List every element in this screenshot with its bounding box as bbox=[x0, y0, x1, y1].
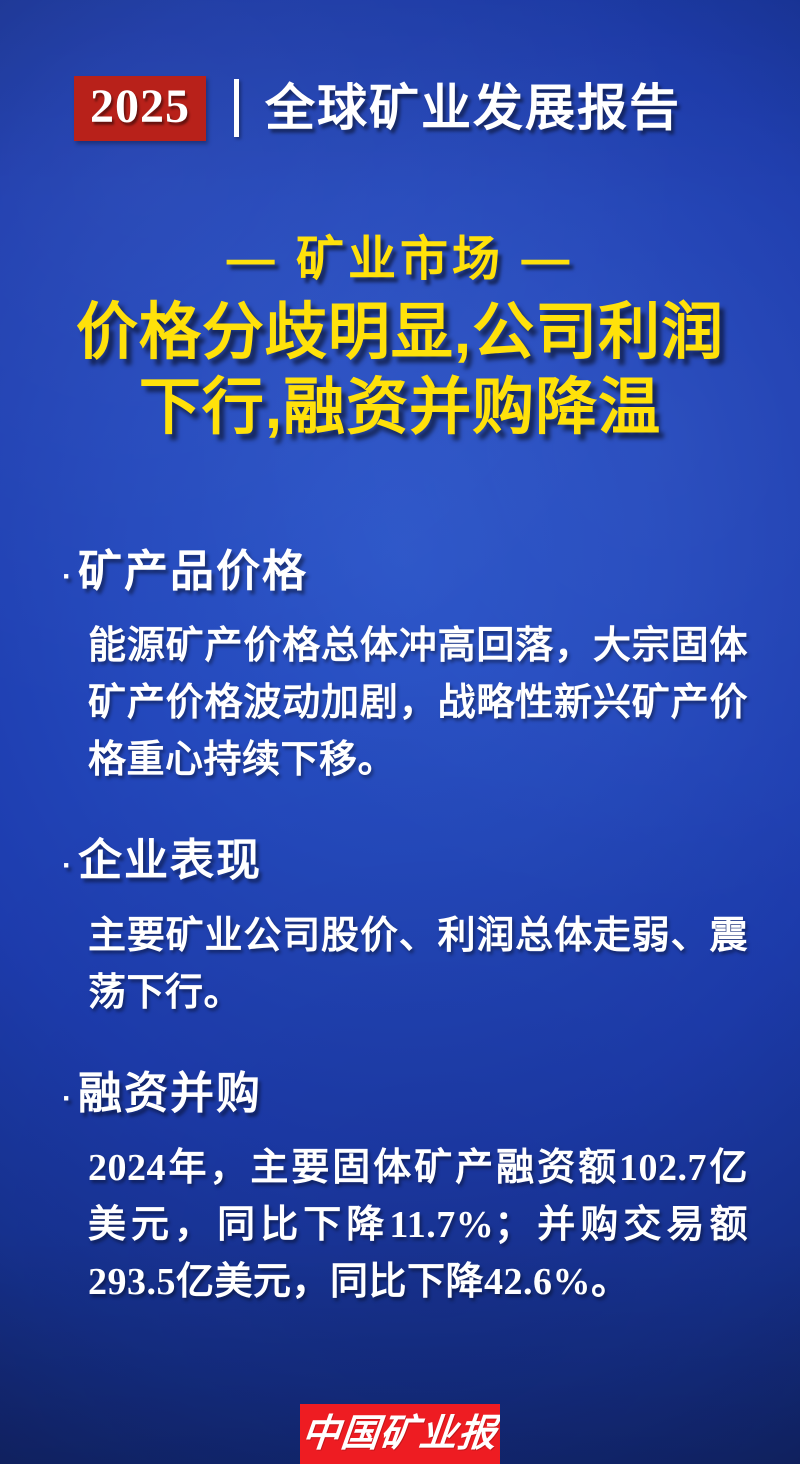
section-body-text: 2024年，主要固体矿产融资额102.7亿美元，同比下降11.7%；并购交易额2… bbox=[62, 1140, 748, 1311]
poster-canvas: 2025 全球矿业发展报告 — 矿业市场 — 价格分歧明显,公司利润 下行,融资… bbox=[0, 0, 800, 1464]
hero-block: — 矿业市场 — 价格分歧明显,公司利润 下行,融资并购降温 bbox=[0, 232, 800, 446]
section-heading-label: 融资并购 bbox=[78, 1070, 262, 1118]
sections-container: · 矿产品价格 能源矿产价格总体冲高回落，大宗固体矿产价格波动加剧，战略性新兴矿… bbox=[62, 548, 748, 1311]
section-heading-label: 企业表现 bbox=[78, 837, 262, 885]
section-heading: · 融资并购 bbox=[62, 1070, 748, 1118]
year-badge: 2025 bbox=[74, 76, 206, 141]
hero-eyebrow: — 矿业市场 — bbox=[0, 232, 800, 289]
bullet-dot-icon: · bbox=[62, 562, 74, 592]
section-heading: · 矿产品价格 bbox=[62, 548, 748, 596]
section-financing-ma: · 融资并购 2024年，主要固体矿产融资额102.7亿美元，同比下降11.7%… bbox=[62, 1070, 748, 1311]
hero-title: 价格分歧明显,公司利润 下行,融资并购降温 bbox=[0, 295, 800, 446]
hero-title-line-2: 下行,融资并购降温 bbox=[48, 370, 752, 446]
publisher-logo: 中国矿业报 bbox=[300, 1404, 500, 1464]
section-heading-label: 矿产品价格 bbox=[78, 548, 308, 596]
section-body-text: 能源矿产价格总体冲高回落，大宗固体矿产价格波动加剧，战略性新兴矿产价格重心持续下… bbox=[62, 618, 748, 789]
header-divider bbox=[234, 79, 239, 137]
hero-title-line-1: 价格分歧明显,公司利润 bbox=[48, 295, 752, 371]
bullet-dot-icon: · bbox=[62, 1084, 74, 1114]
report-title: 全球矿业发展报告 bbox=[265, 83, 681, 133]
section-heading: · 企业表现 bbox=[62, 837, 748, 885]
bullet-dot-icon: · bbox=[62, 851, 74, 881]
poster-header: 2025 全球矿业发展报告 bbox=[74, 72, 740, 144]
section-company-performance: · 企业表现 主要矿业公司股价、利润总体走弱、震荡下行。 bbox=[62, 837, 748, 1021]
section-mineral-prices: · 矿产品价格 能源矿产价格总体冲高回落，大宗固体矿产价格波动加剧，战略性新兴矿… bbox=[62, 548, 748, 789]
section-body-text: 主要矿业公司股价、利润总体走弱、震荡下行。 bbox=[62, 908, 748, 1022]
publisher-logo-text: 中国矿业报 bbox=[300, 1415, 499, 1453]
